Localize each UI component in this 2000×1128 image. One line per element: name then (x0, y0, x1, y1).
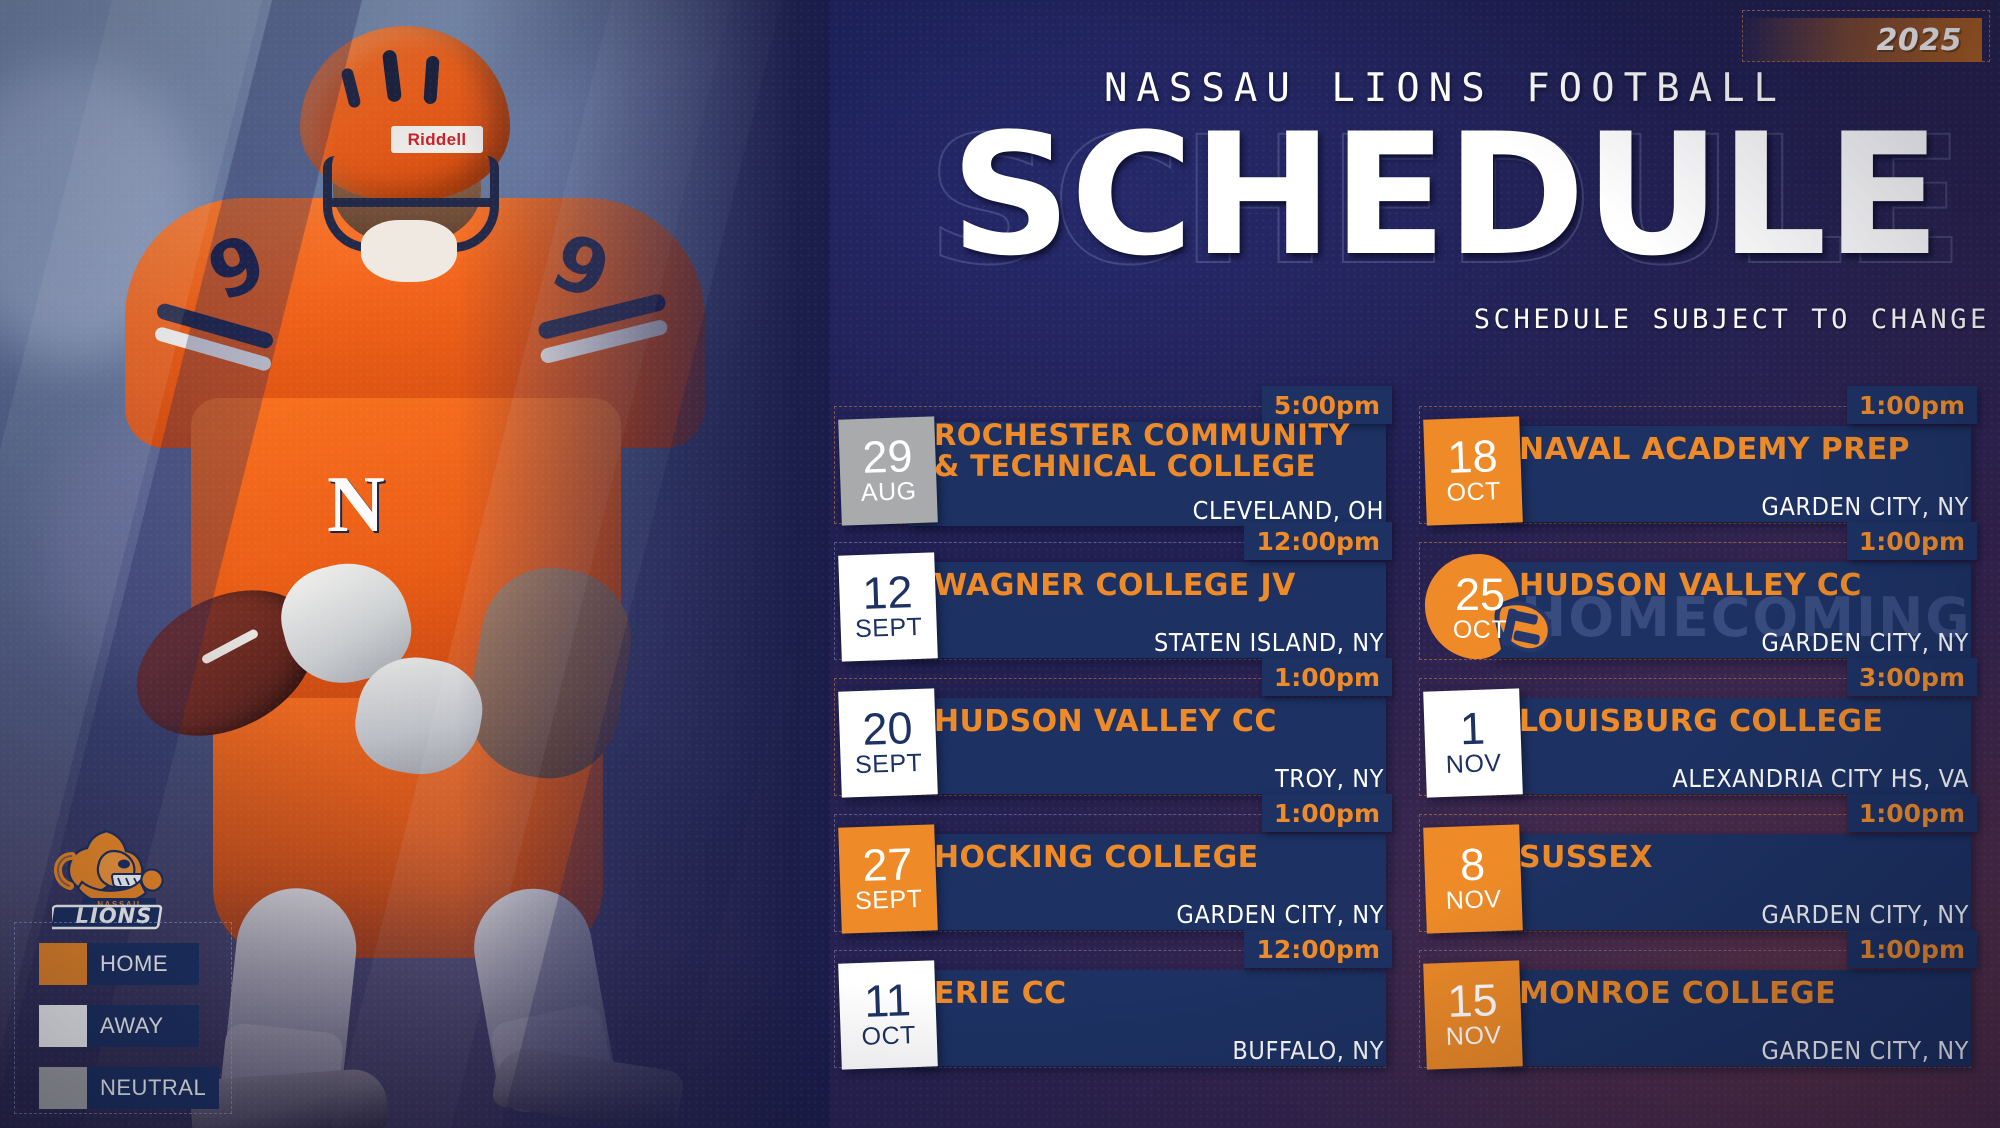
game-day: 20 (862, 707, 914, 751)
legend-swatch-home (39, 943, 87, 985)
game-month: SEPT (855, 613, 923, 643)
game-row[interactable]: 12:00pm 11 OCT ERIE CC BUFFALO, NY (840, 948, 1400, 1084)
game-location: GARDEN CITY, NY (1176, 900, 1384, 929)
game-month: NOV (1445, 886, 1502, 915)
year-label: 2025 (1877, 23, 1963, 58)
legend: HOME AWAY NEUTRAL (14, 922, 232, 1114)
legend-item-neutral: NEUTRAL (39, 1067, 219, 1109)
game-row[interactable]: 12:00pm 12 SEPT WAGNER COLLEGE JV STATEN… (840, 540, 1400, 676)
game-row[interactable]: 1:00pm 20 SEPT HUDSON VALLEY CC TROY, NY (840, 676, 1400, 812)
game-row[interactable]: 3:00pm 1 NOV LOUISBURG COLLEGE ALEXANDRI… (1425, 676, 1985, 812)
game-location: GARDEN CITY, NY (1761, 1036, 1969, 1065)
game-month: OCT (1446, 478, 1501, 507)
game-location: ALEXANDRIA CITY HS, VA (1672, 764, 1969, 793)
game-date-box: 20 SEPT (838, 688, 938, 797)
game-day: 29 (862, 435, 914, 479)
game-day: 12 (862, 571, 914, 615)
header: NASSAU LIONS FOOTBALL SCHEDULE SCHEDULE … (900, 66, 1990, 283)
game-opponent: HUDSON VALLEY CC (1519, 570, 1959, 602)
game-location: GARDEN CITY, NY (1761, 492, 1969, 521)
game-time: 1:00pm (1847, 386, 1977, 424)
schedule-poster: 9 9 N N Riddell (0, 0, 2000, 1128)
game-month: AUG (860, 478, 917, 507)
game-row[interactable]: 1:00pm 27 SEPT HOCKING COLLEGE GARDEN CI… (840, 812, 1400, 948)
legend-label-neutral: NEUTRAL (87, 1067, 219, 1109)
game-row[interactable]: 5:00pm 29 AUG ROCHESTER COMMUNITY & TECH… (840, 404, 1400, 540)
game-opponent: ROCHESTER COMMUNITY & TECHNICAL COLLEGE (934, 420, 1374, 481)
schedule-column-left: 5:00pm 29 AUG ROCHESTER COMMUNITY & TECH… (840, 404, 1400, 1084)
game-date-box: 27 SEPT (838, 824, 938, 933)
game-location: STATEN ISLAND, NY (1154, 628, 1384, 657)
legend-item-away: AWAY (39, 1005, 199, 1047)
game-opponent: LOUISBURG COLLEGE (1519, 706, 1959, 738)
game-opponent: WAGNER COLLEGE JV (934, 570, 1374, 602)
game-date-box: 11 OCT (838, 960, 938, 1069)
game-row[interactable]: 1:00pm 18 OCT NAVAL ACADEMY PREP GARDEN … (1425, 404, 1985, 540)
game-opponent: ERIE CC (934, 978, 1374, 1010)
game-month: OCT (1453, 617, 1507, 645)
game-month: OCT (861, 1022, 916, 1051)
game-row[interactable]: 1:00pm 15 NOV MONROE COLLEGE GARDEN CITY… (1425, 948, 1985, 1084)
game-day: 11 (863, 979, 911, 1023)
game-opponent: HUDSON VALLEY CC (934, 706, 1374, 738)
game-time: 1:00pm (1262, 794, 1392, 832)
game-date-box: 18 OCT (1423, 416, 1523, 525)
header-subtitle: SCHEDULE SUBJECT TO CHANGE (1474, 304, 1990, 335)
game-day: 15 (1447, 979, 1499, 1023)
game-month: SEPT (855, 749, 923, 779)
game-day: 25 (1455, 574, 1505, 617)
game-date-box: 12 SEPT (838, 552, 938, 661)
game-date-box: 15 NOV (1423, 960, 1523, 1069)
game-date-box: 29 AUG (838, 416, 938, 525)
game-location: CLEVELAND, OH (1193, 496, 1384, 525)
game-opponent: MONROE COLLEGE (1519, 978, 1959, 1010)
football-helmet-icon: 25 OCT (1417, 548, 1567, 668)
game-time: 12:00pm (1244, 522, 1392, 560)
game-date-box: 1 NOV (1423, 688, 1523, 797)
game-row[interactable]: 1:00pm 8 NOV SUSSEX GARDEN CITY, NY (1425, 812, 1985, 948)
legend-swatch-away (39, 1005, 87, 1047)
legend-label-away: AWAY (87, 1005, 199, 1047)
game-time: 1:00pm (1847, 794, 1977, 832)
game-time: 1:00pm (1847, 522, 1977, 560)
legend-swatch-neutral (39, 1067, 87, 1109)
game-location: GARDEN CITY, NY (1761, 900, 1969, 929)
game-location: BUFFALO, NY (1232, 1036, 1384, 1065)
legend-item-home: HOME (39, 943, 199, 985)
game-time: 12:00pm (1244, 930, 1392, 968)
game-opponent: SUSSEX (1519, 842, 1959, 874)
game-location: TROY, NY (1275, 764, 1384, 793)
game-time: 3:00pm (1847, 658, 1977, 696)
game-day: 8 (1459, 843, 1486, 887)
game-opponent: NAVAL ACADEMY PREP (1519, 434, 1959, 466)
game-date-box: 8 NOV (1423, 824, 1523, 933)
game-month: NOV (1445, 750, 1502, 779)
legend-label-home: HOME (87, 943, 199, 985)
lion-mascot-icon: NASSAU LIONS (52, 826, 184, 930)
game-day: 27 (862, 843, 914, 887)
game-day: 1 (1459, 707, 1486, 751)
game-month: NOV (1445, 1022, 1502, 1051)
nassau-lions-logo: NASSAU LIONS (52, 826, 184, 930)
game-time: 1:00pm (1262, 658, 1392, 696)
schedule-column-right: 1:00pm 18 OCT NAVAL ACADEMY PREP GARDEN … (1425, 404, 1985, 1084)
page-title: SCHEDULE (950, 111, 1939, 279)
game-month: SEPT (855, 885, 923, 915)
game-time: 1:00pm (1847, 930, 1977, 968)
game-opponent: HOCKING COLLEGE (934, 842, 1374, 874)
game-location: GARDEN CITY, NY (1761, 628, 1969, 657)
year-badge: 2025 (1742, 18, 1982, 62)
game-day: 18 (1447, 435, 1499, 479)
game-row-homecoming[interactable]: HOMECOMING 1:00pm 25 OCT HUDSON VALLEY C… (1425, 540, 1985, 676)
